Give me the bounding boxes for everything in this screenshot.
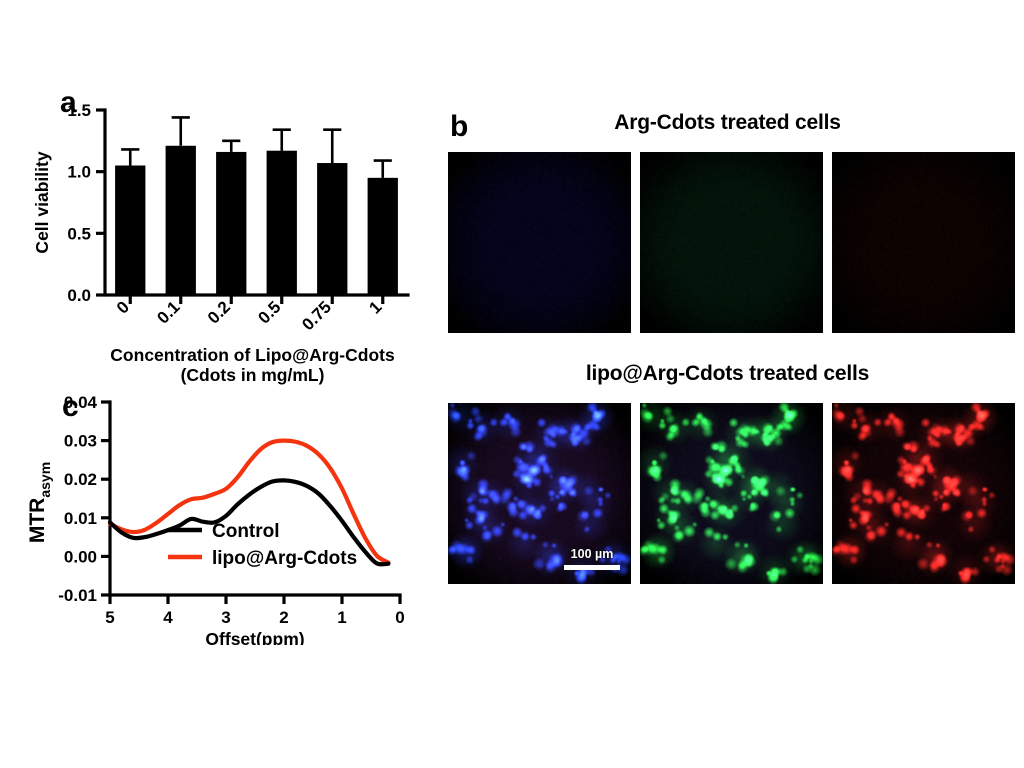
bar	[115, 166, 145, 296]
error-bar	[273, 130, 291, 151]
error-bar	[323, 130, 341, 163]
panel-a-xtick-label: 0.5	[254, 297, 284, 327]
bar	[216, 152, 246, 295]
panel-a-bar-group	[166, 117, 196, 295]
panel-c-legend-entry: lipo@Arg-Cdots	[168, 548, 357, 569]
panel-a-ytick-label: 1.5	[67, 101, 91, 120]
panel-c-ytick-label: 0.00	[64, 547, 97, 566]
panel-c-xtick-label: 3	[221, 608, 230, 627]
panel-c-ytick-label: 0.01	[64, 509, 97, 528]
panel-c-xtick-label: 1	[337, 608, 346, 627]
panel-a-bar-group	[115, 149, 145, 295]
microscopy-row-top	[448, 152, 1015, 333]
scale-bar-label: 100 µm	[564, 548, 620, 562]
panel-c-ytick-label: 0.04	[64, 393, 98, 412]
bar	[166, 146, 196, 295]
arg-cdots-group-title: Arg-Cdots treated cells	[440, 111, 1015, 135]
panel-c-xtick-label: 4	[163, 608, 173, 627]
panel-c-x-axis-title: Offset(ppm)	[205, 629, 304, 645]
panel-a-y-axis-title: Cell viability	[32, 151, 52, 253]
panel-c-xtick-label: 5	[105, 608, 114, 627]
bar	[267, 151, 297, 295]
micrograph-lipo-arg-cdots-red	[832, 403, 1015, 584]
panel-a-x-axis-title: Concentration of Lipo@Arg-Cdots	[110, 345, 395, 365]
lipo-arg-cdots-group-title: lipo@Arg-Cdots treated cells	[440, 362, 1015, 386]
error-bar	[172, 117, 190, 145]
scale-bar-line	[564, 565, 620, 570]
micrograph-canvas	[640, 403, 823, 584]
legend-label: Control	[212, 521, 280, 542]
panel-c-ytick-label: 0.02	[64, 470, 97, 489]
panel-c-series-line	[110, 441, 388, 563]
svg-text:MTRasym: MTRasym	[26, 462, 53, 543]
panel-c-xtick-label: 2	[279, 608, 288, 627]
legend-label: lipo@Arg-Cdots	[212, 548, 357, 569]
panel-c-xtick-label: 0	[395, 608, 404, 627]
panel-b-microscopy: Arg-Cdots treated cells lipo@Arg-Cdots t…	[440, 100, 1015, 625]
micrograph-arg-cdots-green	[640, 152, 823, 333]
panel-a-ytick-label: 1.0	[67, 163, 91, 182]
micrograph-canvas	[448, 152, 631, 333]
panel-c-y-axis-title: MTRasym	[26, 462, 53, 543]
panel-c-line-chart: -0.010.000.010.020.030.04543210MTRasymOf…	[0, 380, 430, 645]
micrograph-canvas	[640, 152, 823, 333]
micrograph-arg-cdots-red	[832, 152, 1015, 333]
panel-a-bar-group	[267, 130, 297, 295]
panel-a-ytick-label: 0.5	[67, 224, 91, 243]
microscopy-row-bottom: 100 µm	[448, 403, 1015, 584]
error-bar	[222, 141, 240, 152]
error-bar	[121, 149, 139, 165]
panel-c-ytick-label: -0.01	[58, 586, 97, 605]
micrograph-arg-cdots-dapi	[448, 152, 631, 333]
bar-chart-svg: 0.00.51.01.500.10.20.50.751Cell viabilit…	[0, 70, 430, 390]
panel-a-bar-group	[368, 161, 398, 295]
panel-a-bar-group	[216, 141, 246, 295]
bar	[317, 163, 347, 295]
panel-a-bar-chart: 0.00.51.01.500.10.20.50.751Cell viabilit…	[0, 70, 430, 390]
panel-c-ytick-label: 0.03	[64, 432, 97, 451]
bar	[368, 178, 398, 295]
scale-bar: 100 µm	[564, 548, 620, 570]
panel-a-xtick-label: 0.2	[204, 297, 234, 327]
micrograph-lipo-arg-cdots-green	[640, 403, 823, 584]
error-bar	[374, 161, 392, 178]
panel-a-bar-group	[317, 130, 347, 295]
micrograph-canvas	[832, 403, 1015, 584]
micrograph-lipo-arg-cdots-dapi: 100 µm	[448, 403, 631, 584]
micrograph-canvas	[832, 152, 1015, 333]
line-chart-svg: -0.010.000.010.020.030.04543210MTRasymOf…	[0, 380, 430, 645]
panel-a-xtick-label: 0.1	[153, 297, 183, 327]
panel-a-xtick-label: 0.75	[298, 297, 335, 334]
panel-a-ytick-label: 0.0	[67, 286, 91, 305]
